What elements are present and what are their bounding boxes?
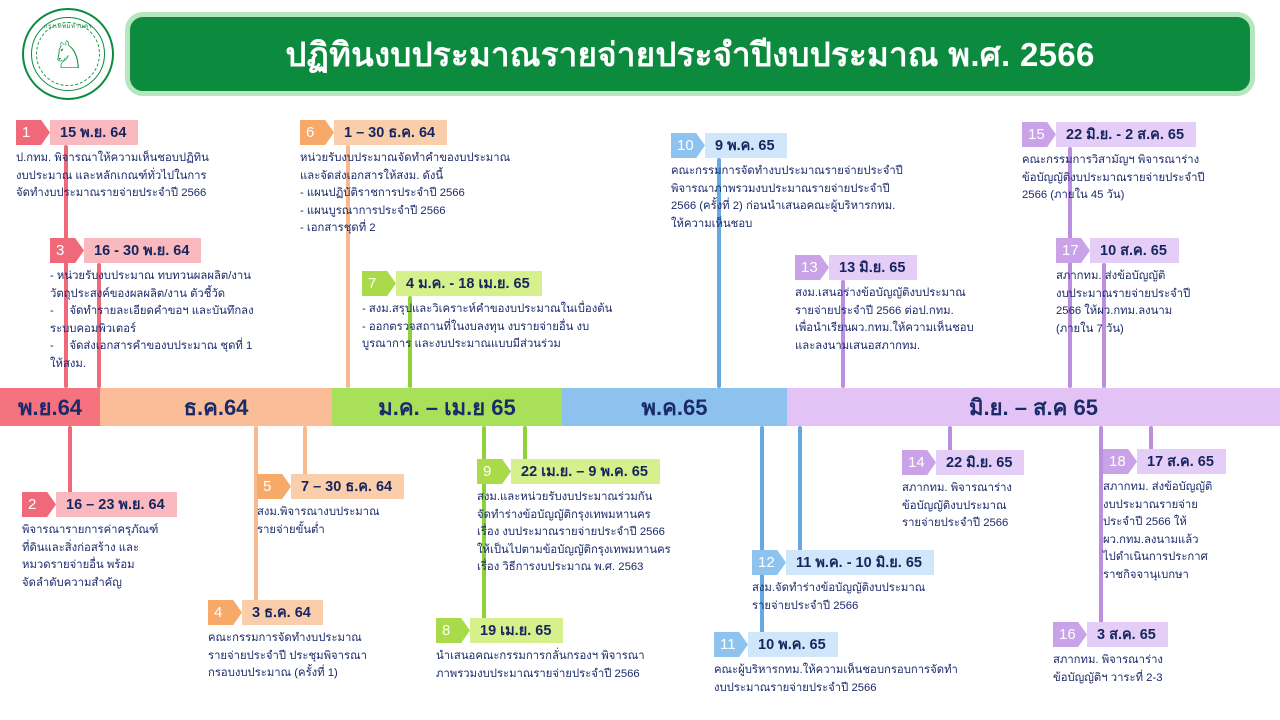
event-number-badge: 18 [1103,449,1137,474]
event-header-8: 819 เม.ย. 65 [436,618,736,643]
event-description-line: ข้อบัญญัติงบประมาณรายจ่ายประจำปี [1022,170,1272,188]
event-description-line: สงม.พิจารณางบประมาณ [257,504,492,522]
event-description-line: จัดทำร่างข้อบัญญัติกรุงเทพมหานคร [477,507,757,525]
timeline-segment-label: พ.ย.64 [18,390,82,425]
event-date-label: 17 ส.ค. 65 [1137,449,1226,474]
event-description-line: เพื่อนำเรียนผว.กทม.ให้ความเห็นชอบ [795,320,1045,338]
event-header-7: 74 ม.ค. - 18 เม.ย. 65 [362,271,702,296]
event-number-badge: 16 [1053,622,1087,647]
event-date-label: 13 มิ.ย. 65 [829,255,917,280]
event-description-line: เรื่อง งบประมาณรายจ่ายประจำปี 2566 [477,524,757,542]
event-number-badge: 11 [714,632,748,657]
event-description-line: รายจ่ายประจำปี ประชุมพิจารณา [208,648,458,666]
timeline-segment-label: ม.ค. – เม.ย 65 [378,390,516,425]
timeline-segment-2[interactable]: ธ.ค.64 [100,388,332,426]
event-description: พิจารณารายการค่าครุภัณฑ์ที่ดินและสิ่งก่อ… [22,522,252,592]
event-card-3[interactable]: 316 - 30 พ.ย. 64- หน่วยรับงบประมาณ ทบทวน… [50,238,350,373]
event-description-line: ภาพรวมงบประมาณรายจ่ายประจำปี 2566 [436,666,736,684]
event-description-line: - จัดทำรายละเอียดคำขอฯ และบันทึกลง [50,303,350,321]
event-description: นำเสนอคณะกรรมการกลั่นกรองฯ พิจารณาภาพรวม… [436,648,736,683]
event-description-line: วัตถุประสงค์ของผลผลิต/งาน ตัวชี้วัด [50,286,350,304]
event-description-line: งบประมาณรายจ่ายประจำปี [1056,286,1246,304]
event-description-line: - เอกสารชุดที่ 2 [300,220,600,238]
timeline-bar: พ.ย.64ธ.ค.64ม.ค. – เม.ย 65พ.ค.65มิ.ย. – … [0,388,1280,426]
event-description-line: และจัดส่งเอกสารให้สงม. ดังนี้ [300,168,600,186]
event-card-5[interactable]: 57 – 30 ธ.ค. 64สงม.พิจารณางบประมาณรายจ่า… [257,474,492,539]
event-description-line: - แผนบูรณาการประจำปี 2566 [300,203,600,221]
event-header-18: 1817 ส.ค. 65 [1103,449,1268,474]
event-description-line: รายจ่ายประจำปี 2566 [752,598,1042,616]
event-header-16: 163 ส.ค. 65 [1053,622,1228,647]
event-description-line: งบประมาณ และหลักเกณฑ์ทั่วไปในการ [16,168,301,186]
event-header-15: 1522 มิ.ย. - 2 ส.ค. 65 [1022,122,1272,147]
event-card-11[interactable]: 1110 พ.ค. 65คณะผู้บริหารกทม.ให้ความเห็นช… [714,632,1024,697]
event-description-line: จัดลำดับความสำคัญ [22,575,252,593]
event-number-badge: 6 [300,120,334,145]
event-description: สภากทม. ส่งข้อบัญญัติงบประมาณรายจ่ายประจ… [1056,268,1246,338]
timeline-segment-label: มิ.ย. – ส.ค 65 [969,390,1098,425]
event-description-line: - จัดส่งเอกสารคำของบประมาณ ชุดที่ 1 [50,338,350,356]
seal-top-text: กรุงเทพมหานคร [44,21,92,31]
event-date-label: 3 ส.ค. 65 [1087,622,1168,647]
event-description: สงม.พิจารณางบประมาณรายจ่ายขั้นต่ำ [257,504,492,539]
timeline-segment-4[interactable]: พ.ค.65 [562,388,787,426]
event-card-13[interactable]: 1313 มิ.ย. 65สงม.เสนอร่างข้อบัญญัติงบประ… [795,255,1045,355]
event-description: คณะกรรมการวิสามัญฯ พิจารณาร่างข้อบัญญัติ… [1022,152,1272,205]
event-description: คณะกรรมการจัดทำงบประมาณรายจ่ายประจำปีพิจ… [671,163,1001,233]
event-number-badge: 13 [795,255,829,280]
event-description: หน่วยรับงบประมาณจัดทำคำของบประมาณและจัดส… [300,150,600,238]
event-date-label: 3 ธ.ค. 64 [242,600,323,625]
event-date-label: 7 – 30 ธ.ค. 64 [291,474,404,499]
event-description-line: พิจารณารายการค่าครุภัณฑ์ [22,522,252,540]
timeline-segment-3[interactable]: ม.ค. – เม.ย 65 [332,388,562,426]
event-header-11: 1110 พ.ค. 65 [714,632,1024,657]
event-description-line: สภากทม. พิจารณาร่าง [1053,652,1228,670]
event-card-1[interactable]: 115 พ.ย. 64ป.กทม. พิจารณาให้ความเห็นชอบป… [16,120,301,203]
event-header-5: 57 – 30 ธ.ค. 64 [257,474,492,499]
event-description-line: คณะผู้บริหารกทม.ให้ความเห็นชอบกรอบการจัด… [714,662,1024,680]
event-header-10: 109 พ.ค. 65 [671,133,1001,158]
event-description-line: สงม.เสนอร่างข้อบัญญัติงบประมาณ [795,285,1045,303]
event-description-line: ป.กทม. พิจารณาให้ความเห็นชอบปฏิทิน [16,150,301,168]
timeline-segment-5[interactable]: มิ.ย. – ส.ค 65 [787,388,1280,426]
event-description-line: - แผนปฏิบัติราชการประจำปี 2566 [300,185,600,203]
event-description: สภากทม. ส่งข้อบัญญัติงบประมาณรายจ่ายประจ… [1103,479,1268,584]
event-description-line: จัดทำงบประมาณรายจ่ายประจำปี 2566 [16,185,301,203]
event-date-label: 22 มิ.ย. - 2 ส.ค. 65 [1056,122,1196,147]
event-description-line: ประจำปี 2566 ให้ [1103,514,1268,532]
event-description-line: บูรณาการ และงบประมาณแบบมีส่วนร่วม [362,336,702,354]
event-card-2[interactable]: 216 – 23 พ.ย. 64พิจารณารายการค่าครุภัณฑ์… [22,492,252,592]
event-description-line: - สงม.สรุปและวิเคราะห์คำของบประมาณในเบื่… [362,301,702,319]
event-number-badge: 1 [16,120,50,145]
event-card-17[interactable]: 1710 ส.ค. 65สภากทม. ส่งข้อบัญญัติงบประมา… [1056,238,1246,338]
event-header-12: 1211 พ.ค. - 10 มิ.ย. 65 [752,550,1042,575]
event-date-label: 19 เม.ย. 65 [470,618,563,643]
event-connector-stem-12 [798,426,802,560]
event-card-9[interactable]: 922 เม.ย. – 9 พ.ค. 65สงม.และหน่วยรับงบปร… [477,459,757,577]
event-date-label: 4 ม.ค. - 18 เม.ย. 65 [396,271,542,296]
event-card-4[interactable]: 43 ธ.ค. 64คณะกรรมการจัดทำงบประมาณรายจ่าย… [208,600,458,683]
event-date-label: 10 พ.ค. 65 [748,632,838,657]
event-header-13: 1313 มิ.ย. 65 [795,255,1045,280]
event-card-14[interactable]: 1422 มิ.ย. 65สภากทม. พิจารณาร่างข้อบัญญั… [902,450,1087,533]
event-description-line: ให้ความเห็นชอบ [671,216,1001,234]
event-description-line: 2566 (ภายใน 45 วัน) [1022,187,1272,205]
event-number-badge: 4 [208,600,242,625]
event-number-badge: 5 [257,474,291,499]
event-description-line: สงม.และหน่วยรับงบประมาณร่วมกัน [477,489,757,507]
event-description-line: รายจ่ายประจำปี 2566 [902,515,1087,533]
event-date-label: 16 – 23 พ.ย. 64 [56,492,177,517]
bangkok-seal-icon: กรุงเทพมหานคร ♘ [22,8,114,100]
event-description-line: พิจารณาภาพรวมงบประมาณรายจ่ายประจำปี [671,181,1001,199]
event-date-label: 22 มิ.ย. 65 [936,450,1024,475]
event-number-badge: 14 [902,450,936,475]
event-description-line: - ออกตรวจสถานที่ในงบลงทุน งบรายจ่ายอื่น … [362,319,702,337]
event-number-badge: 2 [22,492,56,517]
event-description-line: และลงนามเสนอสภากทม. [795,338,1045,356]
event-number-badge: 7 [362,271,396,296]
event-description: สภากทม. พิจารณาร่างข้อบัญญัติฯ วาระที่ 2… [1053,652,1228,687]
seal-deity-icon: ♘ [51,37,85,75]
event-card-10[interactable]: 109 พ.ค. 65คณะกรรมการจัดทำงบประมาณรายจ่า… [671,133,1001,233]
event-header-6: 61 – 30 ธ.ค. 64 [300,120,600,145]
event-header-3: 316 - 30 พ.ย. 64 [50,238,350,263]
event-date-label: 11 พ.ค. - 10 มิ.ย. 65 [786,550,934,575]
event-description: ป.กทม. พิจารณาให้ความเห็นชอบปฏิทินงบประม… [16,150,301,203]
event-description-line: 2566 ให้ผว.กทม.ลงนาม [1056,303,1246,321]
timeline-segment-label: ธ.ค.64 [184,390,249,425]
event-description-line: ผว.กทม.ลงนามแล้ว [1103,532,1268,550]
event-number-badge: 12 [752,550,786,575]
event-date-label: 9 พ.ค. 65 [705,133,787,158]
event-date-label: 16 - 30 พ.ย. 64 [84,238,201,263]
event-description-line: ที่ดินและสิ่งก่อสร้าง และ [22,540,252,558]
event-description-line: สภากทม. ส่งข้อบัญญัติ [1103,479,1268,497]
event-connector-stem-2 [68,426,72,500]
event-description-line: ไปดำเนินการประกาศ [1103,549,1268,567]
event-description: สงม.จัดทำร่างข้อบัญญัติงบประมาณรายจ่ายปร… [752,580,1042,615]
event-description-line: (ภายใน 7 วัน) [1056,321,1246,339]
event-description-line: ข้อบัญญัติงบประมาณ [902,498,1087,516]
event-description: - สงม.สรุปและวิเคราะห์คำของบประมาณในเบื่… [362,301,702,354]
event-description-line: ให้เป็นไปตามข้อบัญญัติกรุงเทพมหานคร [477,542,757,560]
event-description-line: คณะกรรมการจัดทำงบประมาณรายจ่ายประจำปี [671,163,1001,181]
event-description-line: งบประมาณรายจ่ายประจำปี 2566 [714,680,1024,698]
event-description-line: สภากทม. พิจารณาร่าง [902,480,1087,498]
event-card-12[interactable]: 1211 พ.ค. - 10 มิ.ย. 65สงม.จัดทำร่างข้อบ… [752,550,1042,615]
event-description: สภากทม. พิจารณาร่างข้อบัญญัติงบประมาณราย… [902,480,1087,533]
event-number-badge: 3 [50,238,84,263]
event-description-line: คณะกรรมการจัดทำงบประมาณ [208,630,458,648]
timeline-segment-label: พ.ค.65 [642,390,708,425]
event-number-badge: 15 [1022,122,1056,147]
event-description: คณะผู้บริหารกทม.ให้ความเห็นชอบกรอบการจัด… [714,662,1024,697]
event-card-18[interactable]: 1817 ส.ค. 65สภากทม. ส่งข้อบัญญัติงบประมา… [1103,449,1268,584]
infographic-canvas: กรุงเทพมหานคร ♘ ปฏิทินงบประมาณรายจ่ายประ… [0,0,1280,720]
event-date-label: 1 – 30 ธ.ค. 64 [334,120,447,145]
page-title: ปฏิทินงบประมาณรายจ่ายประจำปีงบประมาณ พ.ศ… [285,28,1094,81]
event-description-line: รายจ่ายประจำปี 2566 ต่อป.กทม. [795,303,1045,321]
event-description-line: เรื่อง วิธีการงบประมาณ พ.ศ. 2563 [477,559,757,577]
event-description-line: หมวดรายจ่ายอื่น พร้อม [22,557,252,575]
event-header-9: 922 เม.ย. – 9 พ.ค. 65 [477,459,757,484]
event-description-line: หน่วยรับงบประมาณจัดทำคำของบประมาณ [300,150,600,168]
event-header-2: 216 – 23 พ.ย. 64 [22,492,252,517]
event-date-label: 22 เม.ย. – 9 พ.ค. 65 [511,459,660,484]
event-description-line: รายจ่ายขั้นต่ำ [257,522,492,540]
event-description-line: กรอบงบประมาณ (ครั้งที่ 1) [208,665,458,683]
event-card-7[interactable]: 74 ม.ค. - 18 เม.ย. 65- สงม.สรุปและวิเครา… [362,271,702,354]
event-description-line: ให้สงม. [50,356,350,374]
event-description-line: ราชกิจจานุเบกษา [1103,567,1268,585]
event-header-1: 115 พ.ย. 64 [16,120,301,145]
event-description-line: สงม.จัดทำร่างข้อบัญญัติงบประมาณ [752,580,1042,598]
event-description: คณะกรรมการจัดทำงบประมาณรายจ่ายประจำปี ปร… [208,630,458,683]
event-description-line: - หน่วยรับงบประมาณ ทบทวนผลผลิต/งาน [50,268,350,286]
event-number-badge: 8 [436,618,470,643]
page-title-bar: ปฏิทินงบประมาณรายจ่ายประจำปีงบประมาณ พ.ศ… [125,12,1255,96]
event-header-14: 1422 มิ.ย. 65 [902,450,1087,475]
event-number-badge: 9 [477,459,511,484]
event-number-badge: 10 [671,133,705,158]
event-description-line: ข้อบัญญัติฯ วาระที่ 2-3 [1053,670,1228,688]
event-description-line: สภากทม. ส่งข้อบัญญัติ [1056,268,1246,286]
event-description-line: คณะกรรมการวิสามัญฯ พิจารณาร่าง [1022,152,1272,170]
event-number-badge: 17 [1056,238,1090,263]
event-description: สงม.เสนอร่างข้อบัญญัติงบประมาณรายจ่ายประ… [795,285,1045,355]
event-description: สงม.และหน่วยรับงบประมาณร่วมกันจัดทำร่างข… [477,489,757,577]
event-date-label: 10 ส.ค. 65 [1090,238,1179,263]
timeline-segment-1[interactable]: พ.ย.64 [0,388,100,426]
event-date-label: 15 พ.ย. 64 [50,120,138,145]
event-card-16[interactable]: 163 ส.ค. 65สภากทม. พิจารณาร่างข้อบัญญัติ… [1053,622,1228,687]
event-description-line: ระบบคอมพิวเตอร์ [50,321,350,339]
event-card-8[interactable]: 819 เม.ย. 65นำเสนอคณะกรรมการกลั่นกรองฯ พ… [436,618,736,683]
event-header-4: 43 ธ.ค. 64 [208,600,458,625]
event-description-line: นำเสนอคณะกรรมการกลั่นกรองฯ พิจารณา [436,648,736,666]
event-card-6[interactable]: 61 – 30 ธ.ค. 64หน่วยรับงบประมาณจัดทำคำขอ… [300,120,600,238]
event-card-15[interactable]: 1522 มิ.ย. - 2 ส.ค. 65คณะกรรมการวิสามัญฯ… [1022,122,1272,205]
event-description-line: งบประมาณรายจ่าย [1103,497,1268,515]
event-description: - หน่วยรับงบประมาณ ทบทวนผลผลิต/งานวัตถุป… [50,268,350,373]
event-header-17: 1710 ส.ค. 65 [1056,238,1246,263]
event-description-line: 2566 (ครั้งที่ 2) ก่อนนำเสนอคณะผู้บริหาร… [671,198,1001,216]
